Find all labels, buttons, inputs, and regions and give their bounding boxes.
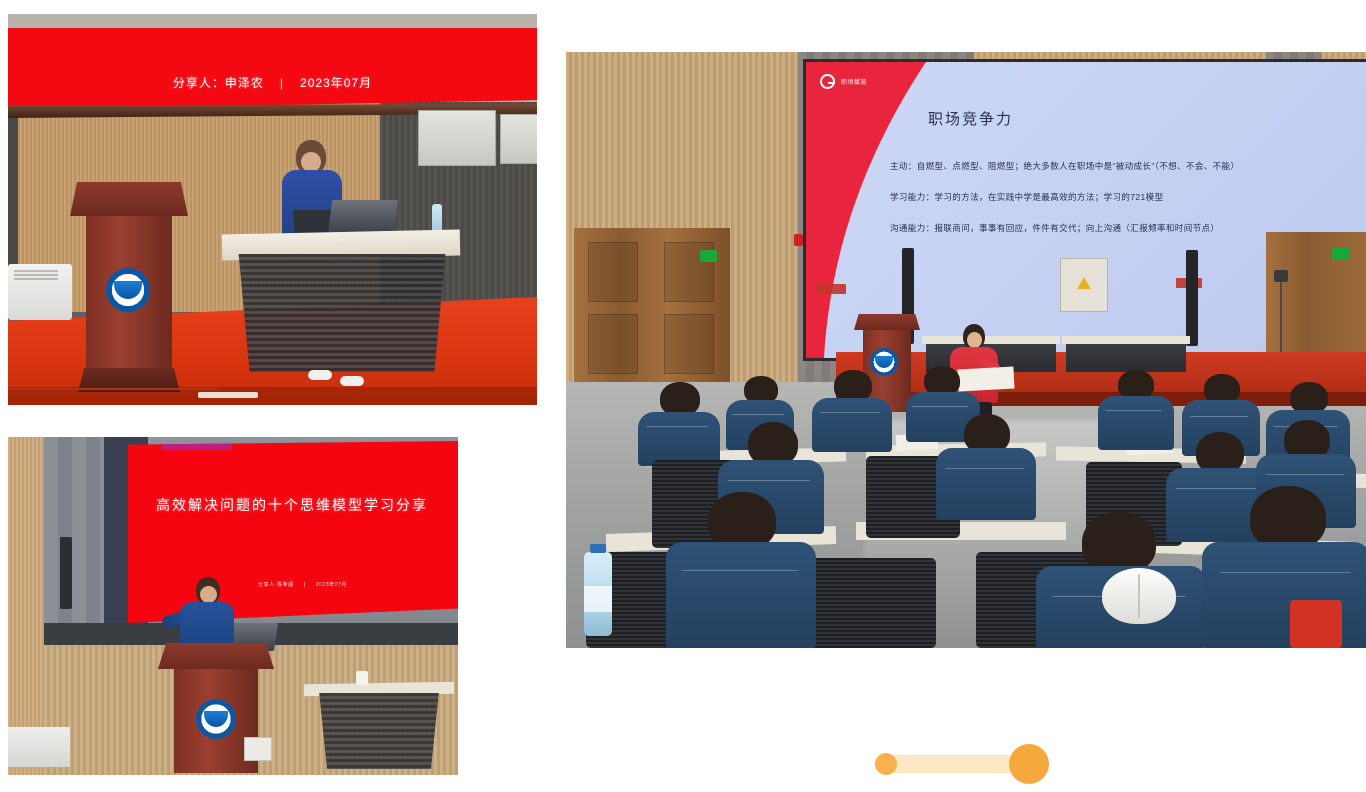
office-chair[interactable] xyxy=(796,558,936,648)
exit-sign-icon-right xyxy=(1332,248,1349,260)
emblem-wave xyxy=(114,281,141,299)
speaker-at-podium-photo[interactable]: 高效解决问题的十个思维模型学习分享 分享人·陈希超|2023年07月 xyxy=(8,437,458,775)
shoe-right xyxy=(340,376,364,386)
speaker-face xyxy=(301,152,321,172)
presenter-label: 分享人·陈希超 xyxy=(258,582,294,588)
wall-speaker-right xyxy=(1186,250,1198,346)
school-emblem-icon xyxy=(106,268,150,312)
front-equipment-desk-2 xyxy=(1066,342,1186,372)
trainee xyxy=(936,414,1036,520)
trainee-uniform xyxy=(638,412,720,466)
trainee-uniform xyxy=(666,542,816,648)
trainee xyxy=(666,492,816,648)
shoe-left xyxy=(308,370,332,380)
emblem-wave xyxy=(204,711,229,727)
slide-bullet-2: 学习能力：学习的方法，在实践中学是最高效的方法；学习的721模型 xyxy=(890,189,1340,206)
slide-title: 职场竞争力 xyxy=(928,108,1013,129)
presenter-label: 分享人：申泽农 xyxy=(173,76,264,90)
wall-sign xyxy=(816,284,846,294)
exit-sign-icon xyxy=(700,250,717,262)
laptop xyxy=(328,200,398,234)
podium-top xyxy=(70,182,188,216)
wall-speaker xyxy=(60,537,72,609)
uniform-seam xyxy=(646,426,708,427)
water-bottle xyxy=(584,552,612,636)
slide-brand-logo: 职场赋能 xyxy=(820,74,867,89)
presentation-date: 2023年07月 xyxy=(300,76,372,90)
red-object-foreground xyxy=(1290,600,1342,648)
emblem-wave xyxy=(875,356,892,367)
desk-top-surface-2 xyxy=(1062,336,1190,344)
helmet-ridge xyxy=(1138,574,1140,618)
classroom-audience-photo[interactable]: 职场赋能 职场竞争力 主动：自燃型、点燃型、阻燃型；绝大多数人在职场中是“被动成… xyxy=(566,52,1366,648)
floor-paper xyxy=(198,392,258,398)
door-panel xyxy=(664,314,714,374)
uniform-seam xyxy=(946,468,1024,469)
trainee-head xyxy=(1250,486,1326,550)
door-panel xyxy=(588,242,638,302)
slider-handle[interactable] xyxy=(1009,744,1049,784)
wall-control-panel xyxy=(418,110,496,166)
floor-cable xyxy=(8,388,218,390)
g-logo-icon xyxy=(820,74,835,89)
presentation-date: 2023年07月 xyxy=(316,582,348,588)
uniform-seam xyxy=(732,414,784,415)
slide-byline: 分享人·陈希超|2023年07月 xyxy=(258,581,347,588)
uniform-seam xyxy=(820,412,880,413)
trainee xyxy=(1098,370,1174,450)
air-conditioner xyxy=(8,727,70,767)
trainee-uniform xyxy=(1098,396,1174,450)
speaker-at-desk-photo[interactable]: 分享人：申泽农|2023年07月 xyxy=(8,14,537,405)
uniform-seam xyxy=(682,570,798,571)
led-screen-caption: 分享人：申泽农|2023年07月 xyxy=(8,74,537,91)
presenter-face xyxy=(967,332,982,348)
uniform-seam xyxy=(912,406,968,407)
bottle-label xyxy=(584,586,612,612)
wall-outlet-box xyxy=(244,737,272,761)
trainee xyxy=(812,370,892,452)
school-emblem-icon xyxy=(196,699,236,739)
slide-title: 高效解决问题的十个思维模型学习分享 xyxy=(128,495,458,515)
slider-start-dot[interactable] xyxy=(875,753,897,775)
trainee-uniform xyxy=(812,398,892,452)
carousel-slider[interactable] xyxy=(875,744,1055,784)
podium-top xyxy=(854,314,920,330)
safety-helmet xyxy=(1102,568,1176,624)
speaker-face xyxy=(200,586,217,603)
trainee xyxy=(638,382,720,466)
byline-separator: | xyxy=(304,582,306,588)
wooden-podium xyxy=(70,182,188,392)
uniform-seam xyxy=(1266,474,1344,475)
uniform-seam xyxy=(1106,410,1162,411)
warning-triangle-icon xyxy=(1077,277,1091,289)
paper-cup xyxy=(356,671,368,685)
uniform-seam xyxy=(1220,572,1350,573)
ac-grill xyxy=(14,270,58,282)
wall-control-panel-secondary xyxy=(500,114,537,164)
brand-text: 职场赋能 xyxy=(841,77,867,86)
air-conditioner xyxy=(8,264,72,320)
electrical-control-box xyxy=(1060,258,1108,312)
fire-alarm-icon xyxy=(794,234,803,246)
side-table-panel xyxy=(314,693,444,769)
trainee-uniform xyxy=(936,448,1036,520)
caption-separator: | xyxy=(280,76,284,90)
podium-top xyxy=(158,643,274,669)
trainee-head xyxy=(660,382,700,416)
wood-wall-strip xyxy=(8,437,44,775)
uniform-seam xyxy=(1190,416,1248,417)
led-screen: 分享人：申泽农|2023年07月 xyxy=(8,28,537,110)
door-panel xyxy=(588,314,638,374)
uniform-seam xyxy=(728,480,810,481)
trainee-head xyxy=(1082,512,1156,574)
bottle-cap xyxy=(590,544,606,553)
slide-bullet-1: 主动：自燃型、点燃型、阻燃型；绝大多数人在职场中是“被动成长”（不想、不会、不能… xyxy=(890,158,1340,175)
desk-modesty-panel xyxy=(232,254,452,372)
